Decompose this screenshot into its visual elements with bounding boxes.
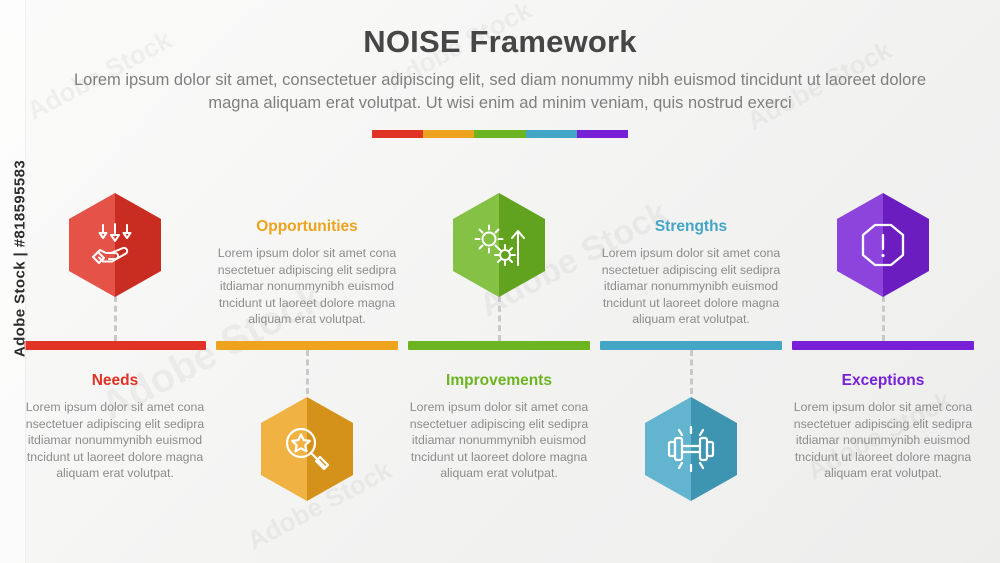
hexagon-strengths[interactable] [645, 397, 737, 501]
magnifier-star-icon [282, 424, 332, 474]
block-exceptions: Exceptions Lorem ipsum dolor sit amet co… [783, 372, 983, 482]
body-exceptions: Lorem ipsum dolor sit amet cona nsectetu… [783, 399, 983, 482]
heading-needs: Needs [15, 372, 215, 390]
hexagon-opportunities[interactable] [261, 397, 353, 501]
connector-opportunities [306, 350, 309, 394]
body-opportunities: Lorem ipsum dolor sit amet cona nsectetu… [207, 245, 407, 328]
legend-segment-red [372, 130, 423, 138]
hexagon-exceptions[interactable] [837, 193, 929, 297]
heading-improvements: Improvements [399, 372, 599, 390]
exclamation-octagon-icon [860, 222, 906, 268]
column-bar-improvements [408, 341, 590, 350]
page-subtitle: Lorem ipsum dolor sit amet, consectetuer… [72, 69, 928, 115]
heading-exceptions: Exceptions [783, 372, 983, 390]
connector-improvements [498, 296, 501, 341]
column-bar-exceptions [792, 341, 974, 350]
dumbbell-icon [665, 425, 717, 473]
legend-segment-blue [526, 130, 577, 138]
infographic-canvas: Adobe Stock Adobe Stock Adobe Stock Adob… [0, 0, 1000, 563]
connector-exceptions [882, 296, 885, 341]
block-strengths: Strengths Lorem ipsum dolor sit amet con… [591, 218, 791, 328]
legend-segment-purple [577, 130, 628, 138]
block-needs: Needs Lorem ipsum dolor sit amet cona ns… [15, 372, 215, 482]
page-title: NOISE Framework [0, 24, 1000, 60]
heading-opportunities: Opportunities [207, 218, 407, 236]
column-bar-strengths [600, 341, 782, 350]
block-opportunities: Opportunities Lorem ipsum dolor sit amet… [207, 218, 407, 328]
watermark-label: Adobe Stock | #818595583 [12, 119, 29, 399]
column-bar-opportunities [216, 341, 398, 350]
body-strengths: Lorem ipsum dolor sit amet cona nsectetu… [591, 245, 791, 328]
connector-strengths [690, 350, 693, 394]
heading-strengths: Strengths [591, 218, 791, 236]
column-bar-needs [24, 341, 206, 350]
hexagon-needs[interactable] [69, 193, 161, 297]
hand-down-arrows-icon [90, 222, 140, 268]
legend-segment-orange [423, 130, 474, 138]
block-improvements: Improvements Lorem ipsum dolor sit amet … [399, 372, 599, 482]
body-improvements: Lorem ipsum dolor sit amet cona nsectetu… [399, 399, 599, 482]
legend-segment-green [474, 130, 525, 138]
hexagon-improvements[interactable] [453, 193, 545, 297]
connector-needs [114, 296, 117, 341]
body-needs: Lorem ipsum dolor sit amet cona nsectetu… [15, 399, 215, 482]
gears-up-arrow-icon [473, 221, 525, 269]
legend-color-bar [372, 130, 628, 138]
